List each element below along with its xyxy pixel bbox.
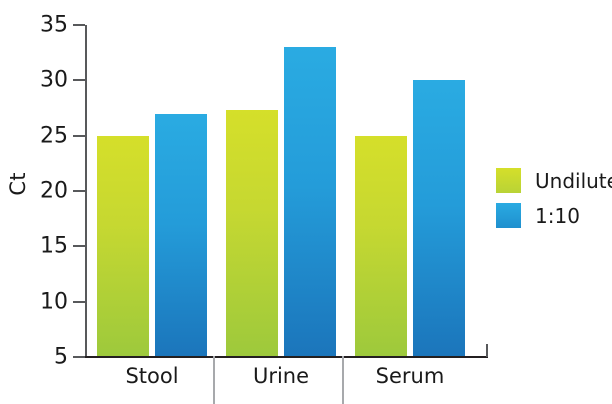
y-tick [73, 356, 85, 358]
legend-label: Undiluted [535, 169, 612, 193]
plot-area [86, 25, 487, 357]
legend-item-undiluted[interactable]: Undiluted [496, 163, 612, 198]
y-tick [73, 301, 85, 303]
x-axis-label: Urine [211, 364, 351, 388]
y-tick-label: 20 [26, 179, 68, 204]
x-axis-label: Stool [82, 364, 222, 388]
x-axis-end-tick [486, 344, 488, 357]
x-axis-line [85, 356, 488, 358]
bar [284, 47, 336, 357]
bar [226, 110, 278, 357]
y-tick [73, 245, 85, 247]
legend-label: 1:10 [535, 204, 580, 228]
bar [97, 136, 149, 357]
y-tick-label: 35 [26, 13, 68, 38]
bar [355, 136, 407, 357]
y-tick-label: 30 [26, 68, 68, 93]
legend-swatch-icon [496, 203, 521, 228]
legend: Undiluted 1:10 [496, 163, 612, 233]
x-axis-label: Serum [340, 364, 480, 388]
bar [155, 114, 207, 357]
legend-item-1-10[interactable]: 1:10 [496, 198, 612, 233]
y-tick-label: 15 [26, 234, 68, 259]
y-tick [73, 79, 85, 81]
y-tick [73, 190, 85, 192]
y-tick-label: 25 [26, 123, 68, 148]
legend-swatch-icon [496, 168, 521, 193]
y-tick-label: 5 [26, 345, 68, 370]
bar-chart: Ct 5101520253035 StoolUrineSerum Undilut… [0, 0, 612, 404]
bar [413, 80, 465, 357]
y-tick [73, 135, 85, 137]
y-tick-label: 10 [26, 289, 68, 314]
y-tick [73, 24, 85, 26]
